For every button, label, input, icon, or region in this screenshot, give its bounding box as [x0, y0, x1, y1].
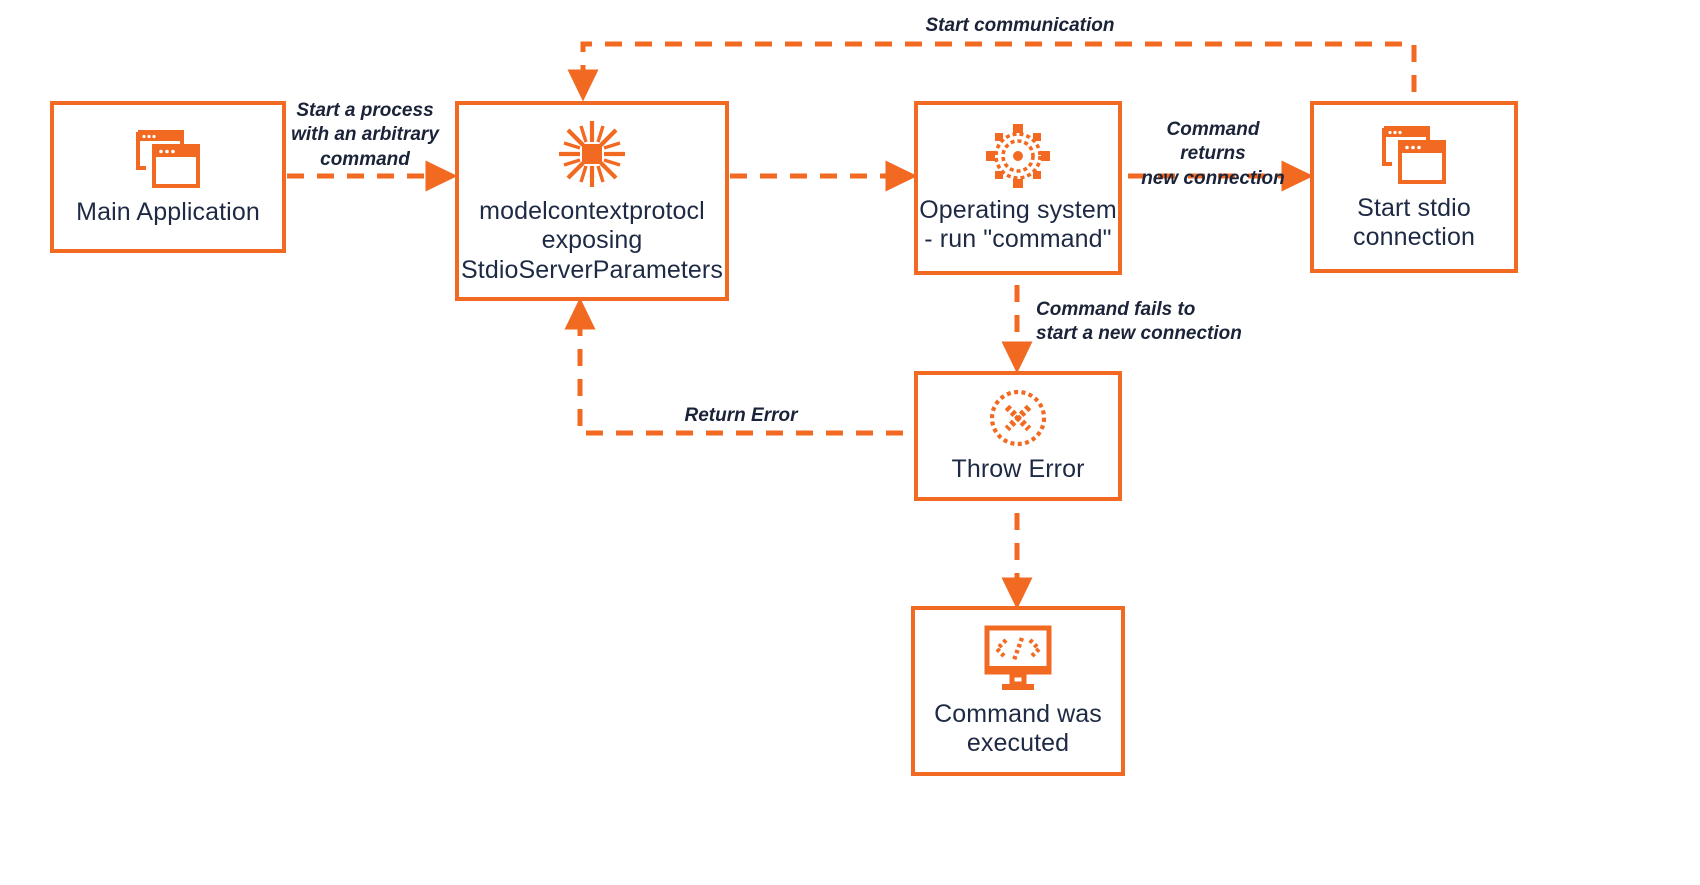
- node-label: Main Application: [76, 198, 260, 228]
- windows-stack-icon: [1378, 122, 1450, 188]
- gear-target-icon: [984, 122, 1052, 190]
- node-throw-error[interactable]: Throw Error: [914, 371, 1122, 501]
- edge-label-command-returns-new-connection: Command returns new connection: [1132, 118, 1294, 191]
- burst-chip-icon: [555, 117, 629, 191]
- node-start-stdio-connection[interactable]: Start stdio connection: [1310, 101, 1518, 273]
- edge-label-return-error: Return Error: [626, 404, 856, 428]
- error-x-circle-icon: [987, 387, 1049, 449]
- node-main-application[interactable]: Main Application: [50, 101, 286, 253]
- windows-stack-icon: [132, 126, 204, 192]
- edge-label-command-fails: Command fails to start a new connection: [1036, 298, 1256, 347]
- node-label: Operating system - run "command": [919, 196, 1117, 255]
- edge-start-communication: [583, 44, 1414, 92]
- monitor-code-icon: [981, 624, 1055, 694]
- node-label: Start stdio connection: [1353, 194, 1475, 253]
- node-label: Throw Error: [951, 455, 1084, 485]
- diagram-canvas: Main Application: [0, 0, 1700, 885]
- node-command-was-executed[interactable]: Command was executed: [911, 606, 1125, 776]
- edge-label-start-a-process: Start a process with an arbitrary comman…: [285, 99, 445, 172]
- node-label: modelcontextprotocl exposing StdioServer…: [461, 197, 723, 286]
- node-label: Command was executed: [934, 700, 1102, 759]
- node-modelcontextprotocol[interactable]: modelcontextprotocl exposing StdioServer…: [455, 101, 729, 301]
- edge-label-start-communication: Start communication: [855, 14, 1185, 38]
- node-operating-system[interactable]: Operating system - run "command": [914, 101, 1122, 275]
